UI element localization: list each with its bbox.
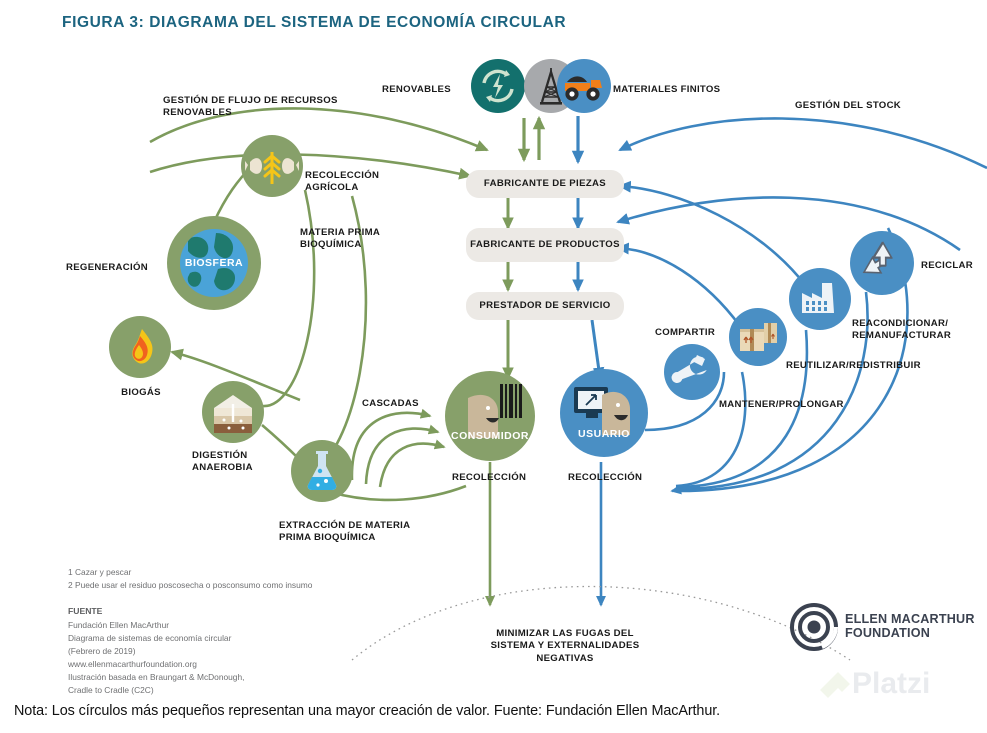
share-maintain-icon <box>664 344 720 400</box>
collection-right-label: RECOLECCIÓN <box>568 472 642 484</box>
renewable-energy-icon <box>471 59 525 113</box>
emf-logo-text: ELLEN MACARTHUR FOUNDATION <box>845 613 975 640</box>
consumer-icon <box>445 371 535 461</box>
emf-logo: ELLEN MACARTHUR FOUNDATION <box>792 605 975 649</box>
blue-inflow-arcs <box>618 118 987 250</box>
regeneration-label: REGENERACIÓN <box>66 262 148 274</box>
service-provider-node[interactable]: PRESTADOR DE SERVICIO <box>466 292 624 320</box>
product-manufacturer-node[interactable]: FABRICANTE DE PRODUCTOS <box>466 228 624 262</box>
renewable-flow-label: GESTIÓN DE FLUJO DE RECURSOS RENOVABLES <box>163 95 338 120</box>
farming-collection-label: RECOLECCIÓN AGRÍCOLA <box>305 170 379 195</box>
recycle-icon <box>850 231 914 295</box>
figure-caption: Nota: Los círculos más pequeños represen… <box>14 703 974 719</box>
minimize-leakage-label: MINIMIZAR LAS FUGAS DEL SISTEMA Y EXTERN… <box>440 628 690 665</box>
consumer-label: CONSUMIDOR <box>443 430 537 442</box>
mining-truck-icon <box>557 59 611 113</box>
extraction-label: EXTRACCIÓN DE MATERIA PRIMA BIOQUÍMICA <box>279 520 410 545</box>
recycle-label: RECICLAR <box>921 260 973 272</box>
refurbish-label: REACONDICIONAR/ REMANUFACTURAR <box>852 318 951 343</box>
biogas-icon <box>109 316 171 378</box>
source-body: Fundación Ellen MacArthur Diagrama de si… <box>68 619 244 697</box>
user-icon <box>560 369 648 457</box>
platzi-watermark-text: Platzi <box>852 667 930 701</box>
cascades-label: CASCADAS <box>362 398 419 410</box>
reuse-label: REUTILIZAR/REDISTRIBUIR <box>786 360 921 372</box>
biochemical-feedstock-label: MATERIA PRIMA BIOQUÍMICA <box>300 227 380 252</box>
parts-manufacturer-node[interactable]: FABRICANTE DE PIEZAS <box>466 170 624 198</box>
biochemical-extraction-icon <box>291 440 353 502</box>
renewables-label: RENOVABLES <box>382 84 451 96</box>
biogas-label: BIOGÁS <box>100 387 182 399</box>
biosphere-label: BIOSFERA <box>167 257 261 269</box>
finite-materials-label: MATERIALES FINITOS <box>613 84 720 96</box>
platzi-watermark-icon <box>820 672 850 698</box>
farming-collection-icon <box>241 135 303 197</box>
cascade-arcs <box>330 413 466 500</box>
collection-left-label: RECOLECCIÓN <box>452 472 526 484</box>
chain-arrows <box>508 198 600 378</box>
footnotes: 1 Cazar y pescar 2 Puede usar el residuo… <box>68 566 312 592</box>
blue-feedback-arcs <box>618 186 806 326</box>
refurbish-remanufacture-icon <box>789 268 851 330</box>
maintain-label: MANTENER/PROLONGAR <box>719 399 844 411</box>
user-label: USUARIO <box>557 428 651 440</box>
platzi-watermark: Platzi <box>852 667 930 701</box>
anaerobic-digestion-icon <box>202 381 264 443</box>
source-arrows <box>524 116 578 162</box>
share-label: COMPARTIR <box>655 327 715 339</box>
reuse-redistribute-icon <box>729 308 787 366</box>
stock-management-label: GESTIÓN DEL STOCK <box>795 100 901 112</box>
anaerobic-digestion-label: DIGESTIÓN ANAEROBIA <box>192 450 253 475</box>
source-heading: FUENTE <box>68 606 102 616</box>
